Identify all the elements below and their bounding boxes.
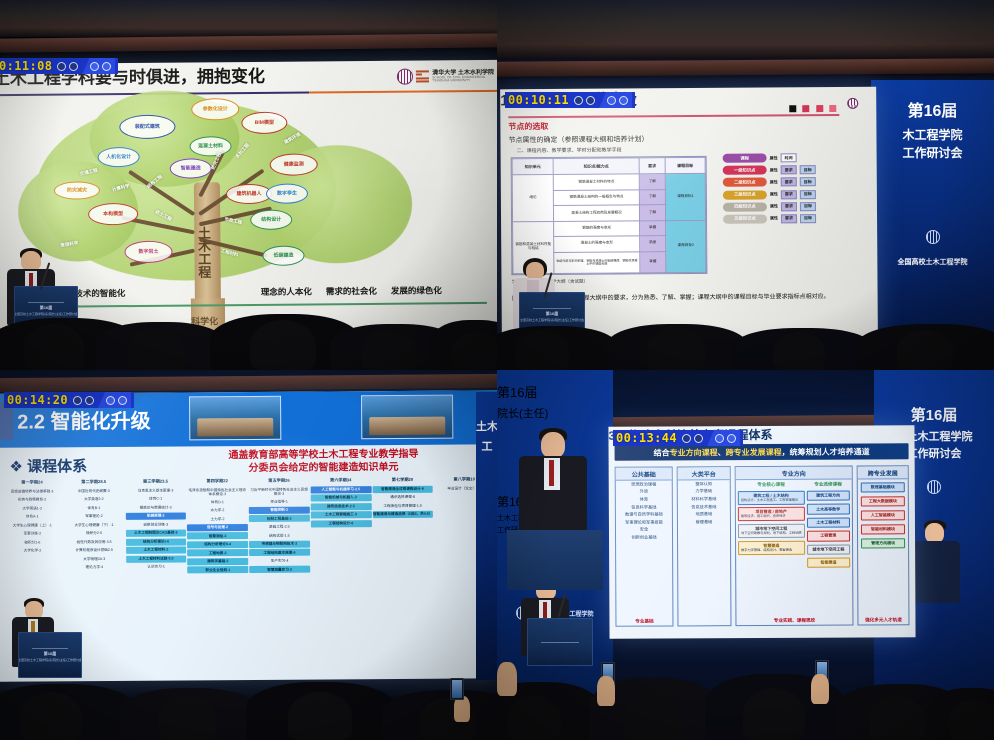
core-sub: 建筑经济、施工组织、投资经济 bbox=[741, 515, 802, 519]
column-platform: 大类平台 整体认知 力学基础 材料科学基础 信息技术基础 地质基础 管理基础 bbox=[677, 466, 732, 626]
course-cell: 土木工程材料试验-0.5 bbox=[126, 555, 187, 562]
column-title: 公共基础 bbox=[616, 467, 672, 480]
record-icon[interactable] bbox=[85, 396, 94, 405]
audience-head bbox=[743, 688, 805, 740]
column-footer: 专业实践、课程思政 bbox=[774, 617, 815, 625]
slide-subtitle: 节点的选取 bbox=[508, 121, 548, 132]
course-cell: 工程结构设计-6 bbox=[311, 520, 372, 527]
cell-point: 粘结作用与影响机理、钢筋与混凝土的粘结强度、钢筋在混凝土中的锚固长度 bbox=[554, 251, 640, 273]
audience-hand bbox=[597, 676, 615, 706]
slide-line1: 节点属性的确定（参照课程大纲和培养计划） bbox=[508, 134, 648, 145]
timer-controls bbox=[574, 96, 595, 105]
caption-item: 需求的社会化 bbox=[326, 285, 377, 297]
side-banner-logo bbox=[871, 230, 994, 244]
course-cell: 砼制工程基础-2 bbox=[249, 515, 310, 522]
term-column: 第七学期20 智能建造全过程课程设计-6 通识选修课程-8 工程承包与项目管理-… bbox=[372, 477, 433, 573]
column-item: 材料科学基础 bbox=[691, 495, 716, 503]
side-led-banner: 土木 工 bbox=[476, 392, 497, 680]
course-cell: 智能建造全过程课程设计-6 bbox=[372, 485, 433, 492]
inner-podium bbox=[507, 530, 603, 590]
course-cell: 通识选修课程-8 bbox=[372, 494, 433, 501]
ceiling bbox=[497, 0, 994, 59]
slide-banner: 通盖教育部高等学校土木工程专业教学指导 分委员会给定的智能建造知识单元 bbox=[173, 448, 473, 475]
timer-tab[interactable] bbox=[82, 58, 115, 74]
course-cell: 中国近现代史纲要-3 bbox=[63, 487, 124, 494]
side-banner-line3: 工作研讨会 bbox=[871, 146, 994, 162]
term-column: 第一学期24 思想道德修养与法律基础-3 形势与政策教育-2 大学英语1-2 体… bbox=[2, 479, 63, 575]
eye-left-icon[interactable] bbox=[90, 62, 99, 71]
graph-node: 三级知识点 bbox=[723, 190, 767, 199]
cross-module: 智能材料模块 bbox=[861, 524, 905, 535]
course-cell: 人工智能与机器学习-2.5 bbox=[310, 486, 371, 493]
audience-head bbox=[869, 696, 925, 740]
term-header: 第三学期23.5 bbox=[125, 478, 186, 484]
elective-course: 建筑工程方向 bbox=[806, 491, 849, 502]
graph-node: 一级知识点 bbox=[723, 166, 767, 175]
tree-bubble: 低碳建造 bbox=[262, 246, 304, 266]
graph-attr-label: 属性 bbox=[770, 179, 778, 185]
section-title: ❖ 课程体系 bbox=[9, 455, 87, 477]
band-post: ，统筹规划人才培养通道 bbox=[782, 446, 870, 457]
graph-value-req: 要求 bbox=[781, 165, 797, 174]
table-row: 钢筋和混凝土材料性能与粘结 钢筋的强度与变形 掌握 课程目标2 bbox=[513, 220, 706, 237]
campus-photo bbox=[361, 395, 453, 440]
graph-attr-label: 属性 bbox=[770, 191, 778, 197]
column-item: 体育 bbox=[640, 496, 648, 504]
graph-value-goal: 目标 bbox=[800, 214, 816, 223]
course-cell: 微积分2-5 bbox=[64, 530, 125, 537]
column-title: 专业方向 bbox=[736, 467, 852, 481]
banner-line2: 分委员会给定的智能建造知识单元 bbox=[173, 461, 473, 476]
caption-item: 理念的人本化 bbox=[261, 285, 312, 297]
cell-req: 掌握 bbox=[640, 220, 666, 236]
course-cell: 结构分析理论I-4 bbox=[126, 538, 187, 545]
timer-controls bbox=[682, 434, 703, 443]
graph-node: 课程 bbox=[723, 153, 767, 162]
column-item: 整体认知 bbox=[695, 480, 712, 488]
curriculum-grid: 第一学期24 思想道德修养与法律基础-3 形势与政策教育-2 大学英语1-2 体… bbox=[2, 476, 496, 575]
column-item: 地质基础 bbox=[695, 511, 712, 519]
side-banner-line1: 第16届 bbox=[871, 102, 994, 123]
course-cell: 形势与政策教育-2 bbox=[2, 496, 63, 503]
term-header: 第五学期26 bbox=[249, 478, 310, 484]
cross-module: 数理基础模块 bbox=[861, 482, 905, 493]
column-title: 大类平台 bbox=[678, 467, 730, 480]
timer-value: 00:13:44 bbox=[616, 431, 677, 445]
course-cell: 土木工程制图及CAD基础-3 bbox=[125, 529, 186, 536]
core-sub: 结构设计、土木工程施工、工程管理概论 bbox=[741, 498, 802, 502]
photo-grid: 土木工程学科要与时俱进，拥抱变化 清华大学 土木水利学院 SCHOOL OF C… bbox=[0, 0, 994, 740]
elective-course: 智能建造 bbox=[807, 557, 850, 568]
elective-course: 工程管理 bbox=[807, 531, 850, 542]
course-cell: 土力学-2 bbox=[187, 515, 248, 522]
stream-timer: 0:11:08 bbox=[0, 58, 118, 74]
band-mid: 、 bbox=[718, 447, 726, 458]
cross-module: 人工智能模块 bbox=[861, 510, 905, 521]
play-icon[interactable] bbox=[574, 96, 583, 105]
inner-banner-line1: 第16届 bbox=[497, 382, 613, 401]
audience-head bbox=[452, 332, 497, 370]
caption-item: 发展的绿色化 bbox=[391, 284, 442, 296]
title-rule bbox=[508, 114, 839, 118]
table-row: 绪论 钢筋混凝土材料的特点 了解 课程目标1 bbox=[512, 174, 705, 191]
term-header: 第七学期20 bbox=[372, 477, 433, 483]
core-label: 专业核心课程 bbox=[738, 482, 805, 488]
graph-attr-label: 属性 bbox=[770, 216, 778, 222]
audience-head bbox=[288, 692, 352, 740]
column-item: 力学基础 bbox=[695, 488, 712, 496]
audience-head bbox=[897, 330, 953, 370]
stream-timer: 00:13:44 bbox=[613, 430, 743, 446]
course-cell: 智能机械与机器人-2 bbox=[310, 494, 371, 501]
play-icon[interactable] bbox=[73, 396, 82, 405]
course-cell: 微积分1-6 bbox=[2, 539, 63, 546]
graph-value-req: 要求 bbox=[781, 190, 797, 199]
panel-top-left: 土木工程学科要与时俱进，拥抱变化 清华大学 土木水利学院 SCHOOL OF C… bbox=[0, 0, 497, 370]
graph-value-goal: 目标 bbox=[800, 177, 816, 186]
play-icon[interactable] bbox=[57, 62, 66, 71]
course-cell: 大学生心理健康（上）-1 bbox=[2, 522, 63, 529]
record-icon[interactable] bbox=[69, 62, 78, 71]
column-major-direction: 专业方向 专业核心课程 建筑工程 / 土木结构 结构设计、土木工程施工、工程管理… bbox=[735, 466, 854, 627]
eye-right-icon[interactable] bbox=[727, 434, 736, 443]
core-sub: 地下空间勘察与规划、地下结构、工程地质 bbox=[741, 532, 802, 536]
course-cell: 大学化学-2 bbox=[2, 547, 63, 554]
audience-head bbox=[515, 330, 569, 370]
panel-bottom-right: 第16届 院长(主任) 重庆大学土木工程学院 第16届 土木工程学院(系)院长(… bbox=[497, 370, 994, 740]
record-icon[interactable] bbox=[694, 434, 703, 443]
course-cell: 思想道德修养与法律基础-3 bbox=[2, 488, 63, 495]
cell-point: 钢筋的强度与变形 bbox=[554, 221, 640, 237]
cell-goal: 课程目标2 bbox=[666, 220, 706, 273]
audience-head bbox=[128, 328, 184, 370]
side-banner-line1: 第16届 bbox=[874, 406, 994, 426]
elective-label: 专业选修课程 bbox=[806, 482, 849, 488]
graph-value-req: 要求 bbox=[781, 202, 797, 211]
elective-course: 城市地下空间工程 bbox=[807, 544, 850, 555]
course-cell: 土木工程智能施工-3 bbox=[311, 511, 372, 518]
side-banner-line: 工 bbox=[476, 440, 497, 454]
course-cell: 体育D-1 bbox=[187, 498, 248, 505]
cell-req: 了解 bbox=[639, 174, 665, 190]
course-cell: 大学英语1-2 bbox=[2, 505, 63, 512]
graph-value-goal: 目标 bbox=[800, 165, 816, 174]
timer-tab[interactable] bbox=[599, 92, 632, 108]
graph-value-goal: 目标 bbox=[800, 202, 816, 211]
course-cell: 生产实习-4 bbox=[249, 557, 310, 564]
core-course: 城市地下空间工程 地下空间勘察与规划、地下结构、工程地质 bbox=[738, 524, 805, 539]
term-column: 第六学期34 人工智能与机器学习-2.5 智能机械与机器人-2 建筑信息技术-2… bbox=[310, 477, 371, 573]
eye-right-icon[interactable] bbox=[619, 96, 628, 105]
col-header: 知识点/能力点 bbox=[553, 158, 639, 175]
side-banner-footer: 全国高校土木工程学院 bbox=[871, 258, 994, 267]
tsinghua-seal-icon bbox=[847, 98, 858, 109]
course-cell: 工程承包与项目管理-1.5 bbox=[372, 502, 433, 509]
timer-value: 0:11:08 bbox=[0, 59, 52, 73]
cell-req: 掌握 bbox=[640, 251, 666, 273]
band-em2: 跨专业发展课程 bbox=[726, 446, 782, 457]
audience-head bbox=[24, 324, 84, 370]
course-cell: 机械原理-2 bbox=[125, 512, 186, 519]
course-cell: 马克思主义基本原理-3 bbox=[125, 487, 186, 494]
panel-top-right: 第16届 木工程学院 工作研讨会 全国高校土木工程学院 1. 课程知识图谱建设 bbox=[497, 0, 994, 370]
course-cell: 毛泽东思想和中国特色社会主义理论体系概论-3 bbox=[187, 487, 248, 498]
course-cell: 择业指导-1 bbox=[249, 498, 310, 505]
audience bbox=[497, 654, 994, 740]
eye-left-icon[interactable] bbox=[715, 434, 724, 443]
cell-req: 了解 bbox=[639, 190, 665, 206]
column-footer: 强化多元人才轨道 bbox=[865, 616, 902, 624]
column-item: 信息科学基础 bbox=[631, 503, 656, 511]
graph-node: 四级知识点 bbox=[723, 202, 767, 211]
inner-banner-overlay: 院长(主任) bbox=[497, 405, 613, 421]
graph-value-req: 要求 bbox=[781, 178, 797, 187]
timer-tab[interactable] bbox=[707, 430, 740, 446]
cross-module: 管理方向模块 bbox=[861, 538, 905, 549]
course-cell: 智慧测绘-3 bbox=[187, 532, 248, 539]
cell-req: 熟悉 bbox=[640, 236, 666, 252]
cell-goal: 课程目标1 bbox=[665, 174, 705, 221]
slide-program-structure: 3.2 构建多科培养方案课程体系 结合专业方向课程、跨专业发展课程，统筹规划人才… bbox=[608, 425, 915, 639]
course-cell: 线性代数及其应用-3.5 bbox=[64, 538, 125, 545]
cell-unit: 绪论 bbox=[512, 175, 553, 222]
course-cell: 基础工程-2.5 bbox=[249, 523, 310, 530]
eye-right-icon[interactable] bbox=[102, 62, 111, 71]
term-header: 第一学期24 bbox=[2, 479, 63, 485]
column-public-basics: 公共基础 思想政治课程 外语 体育 信息科学基础 数理与自然学科基础 军事理论和… bbox=[615, 466, 674, 626]
timer-value: 00:10:11 bbox=[508, 93, 569, 107]
course-cell: 军事训练-2 bbox=[2, 530, 63, 537]
course-cell: 体育C-1 bbox=[125, 495, 186, 502]
audience-head bbox=[362, 330, 416, 370]
projection-screen: 3.2 构建多科培养方案课程体系 结合专业方向课程、跨专业发展课程，统筹规划人才… bbox=[608, 425, 915, 639]
audience-head bbox=[773, 332, 825, 370]
elective-course: 土木工程材料 bbox=[806, 517, 849, 528]
term-header: 第四学期22 bbox=[187, 478, 248, 484]
audience bbox=[0, 668, 497, 740]
core-course: 建筑工程 / 土木结构 结构设计、土木工程施工、工程管理概论 bbox=[738, 490, 805, 505]
term-header: 第二学期28.5 bbox=[63, 479, 124, 485]
course-cell: 工程结构基本原理-6 bbox=[249, 549, 310, 556]
column-item: 信息技术基础 bbox=[691, 503, 716, 511]
course-cell: 大学生心理健康（下）-1 bbox=[64, 521, 125, 528]
eye-left-icon[interactable] bbox=[106, 396, 115, 405]
column-item: 思想政治课程 bbox=[631, 481, 656, 489]
graph-attr-label: 属性 bbox=[770, 155, 778, 161]
graph-attr-label: 属性 bbox=[770, 167, 778, 173]
play-icon[interactable] bbox=[682, 434, 691, 443]
graph-node: 二级知识点 bbox=[723, 178, 767, 187]
column-cross-major: 跨专业发展 数理基础模块 工程大数据模块 人工智能模块 智能材料模块 管理方向模… bbox=[857, 465, 910, 625]
course-cell: 认识实习-1 bbox=[126, 563, 187, 570]
audience-head bbox=[949, 700, 994, 740]
course-cell: 结构试验-1.5 bbox=[249, 532, 310, 539]
course-cell: 传感器与物联网技术-2 bbox=[249, 540, 310, 547]
course-cell: 体育B-1 bbox=[64, 504, 125, 511]
audience-head bbox=[647, 328, 705, 370]
timer-controls bbox=[73, 396, 94, 405]
audience-head bbox=[20, 692, 82, 740]
course-cell: 创新创业训练-3 bbox=[125, 521, 186, 528]
column-item: 安全 bbox=[640, 526, 648, 534]
graph-value-time: 时间 bbox=[781, 153, 797, 162]
trunk-label: 土木工程 bbox=[196, 226, 210, 278]
podium-line1: 第16届 bbox=[44, 651, 56, 657]
course-cell: 建筑学基础-2 bbox=[187, 558, 248, 565]
band-em1: 专业方向课程 bbox=[670, 447, 718, 458]
timer-controls bbox=[57, 62, 78, 71]
column-footer: 专业基础 bbox=[635, 618, 653, 626]
university-seal-icon bbox=[927, 480, 941, 494]
timer-value: 00:14:20 bbox=[7, 393, 68, 407]
eye-right-icon[interactable] bbox=[118, 396, 127, 405]
audience-phone bbox=[450, 678, 464, 700]
audience-head bbox=[623, 690, 683, 740]
side-banner-line2: 木工程学院 bbox=[871, 128, 994, 144]
slide-title: 2.2 智能化升级 bbox=[17, 405, 151, 435]
core-sub: 数字力学基础、结构设计、数智建造 bbox=[741, 549, 802, 553]
course-cell: 大学英语2-2 bbox=[63, 496, 124, 503]
graph-attr-label: 属性 bbox=[770, 204, 778, 210]
record-icon[interactable] bbox=[586, 96, 595, 105]
ceiling bbox=[0, 0, 497, 37]
band-pre: 结合 bbox=[654, 447, 670, 458]
inner-speaker-figure bbox=[513, 428, 593, 538]
course-cell: 水力学-2 bbox=[187, 507, 248, 514]
course-cell: 体育A-1 bbox=[2, 513, 63, 520]
course-cell: 建筑信息技术-2.5 bbox=[311, 503, 372, 510]
slide-caption-right: 理念的人本化 需求的社会化 发展的绿色化 bbox=[261, 284, 442, 298]
graph-node: 五级知识点 bbox=[723, 214, 767, 223]
course-cell: 智慧测量实习-2 bbox=[249, 566, 310, 573]
audience bbox=[497, 316, 994, 370]
core-course: 项目管理 / 房地产 建筑经济、施工组织、投资经济 bbox=[738, 507, 805, 522]
term-column: 第三学期23.5 马克思主义基本原理-3 体育C-1 概率论与数理统计-3 机械… bbox=[125, 478, 186, 574]
panel-bottom-left: 2.2 智能化升级 ❖ 课程体系 通盖教育部高等学校土木工程专业教学指导 分委员… bbox=[0, 370, 497, 740]
column-title: 跨专业发展 bbox=[858, 466, 908, 479]
course-cell: 概率论与数理统计-3 bbox=[125, 504, 186, 511]
cell-point: 钢筋混凝土结构的一般概念与特点 bbox=[554, 190, 640, 206]
col-header: 知识单元 bbox=[512, 158, 553, 175]
speaker-head bbox=[21, 251, 41, 271]
side-banner-line: 土木 bbox=[476, 420, 497, 434]
university-seal-icon bbox=[926, 230, 940, 244]
term-column: 第五学期26 习近平新时代中国特色社会主义思想概论-3 择业指导-1 智能控制-… bbox=[249, 478, 310, 574]
stream-timer: 00:10:11 bbox=[505, 92, 635, 108]
audience-head bbox=[158, 696, 216, 740]
cell-req: 了解 bbox=[639, 205, 665, 221]
course-cell: 土木工程材料-2 bbox=[126, 546, 187, 553]
course-cell: 结构分析理论II-4 bbox=[187, 541, 248, 548]
timer-tab[interactable] bbox=[98, 392, 131, 408]
cell-point: 钢筋混凝土材料的特点 bbox=[553, 174, 639, 190]
column-item: 管理基础 bbox=[696, 518, 713, 526]
audience-head bbox=[507, 696, 561, 740]
course-cell: 工程地质-2 bbox=[187, 549, 248, 556]
course-cell: 习近平新时代中国特色社会主义思想概论-3 bbox=[249, 486, 310, 497]
graph-value-req: 要求 bbox=[781, 214, 797, 223]
cross-module: 工程大数据模块 bbox=[861, 496, 905, 507]
column-item: 创新创业基础 bbox=[631, 534, 656, 542]
cell-point: 混凝土的强度与变形 bbox=[554, 236, 640, 252]
course-cell: 大学物理2A-3 bbox=[64, 555, 125, 562]
cell-point: 混凝土结构工程应用及发展概况 bbox=[554, 205, 640, 221]
audience-head bbox=[250, 320, 316, 370]
slide-line2: 二、课程内容、教学要求、学时分配和教学手段 bbox=[517, 146, 622, 154]
audience-hand bbox=[811, 674, 829, 704]
caption-item: 技术的智能化 bbox=[74, 287, 125, 299]
course-cell: 智能控制-2 bbox=[249, 506, 310, 513]
audience bbox=[0, 300, 497, 370]
stream-timer: 00:14:20 bbox=[4, 392, 134, 408]
column-item: 外语 bbox=[640, 488, 648, 496]
column-item: 军事理论和军事技能 bbox=[625, 518, 663, 526]
col-header: 要求 bbox=[639, 158, 665, 175]
course-cell: 信号与处理-2 bbox=[187, 524, 248, 531]
eye-left-icon[interactable] bbox=[607, 96, 616, 105]
term-column: 第四学期22 毛泽东思想和中国特色社会主义理论体系概论-3 体育D-1 水力学-… bbox=[187, 478, 248, 574]
course-cell: 智能建造与建造选修（6选3，共4.5） bbox=[372, 511, 433, 518]
audience-hand bbox=[497, 662, 517, 696]
knowledge-graph-chain: 课程 属性 时间 一级知识点 属性 要求 目标 二级知识点 属性 要求 bbox=[723, 153, 869, 224]
elective-course: 土木高等数学 bbox=[806, 504, 849, 515]
col-header: 课程目标 bbox=[665, 157, 705, 174]
term-header: 第六学期34 bbox=[310, 477, 371, 483]
course-cell: 军事理论-2 bbox=[64, 513, 125, 520]
core-course: 智慧建造 数字力学基础、结构设计、数智建造 bbox=[738, 540, 805, 555]
course-cell: 职业生业规划-1 bbox=[187, 566, 248, 573]
course-cell: 计算机程序设计基础2-5 bbox=[64, 547, 125, 554]
campus-photo bbox=[189, 396, 281, 441]
podium-line2: 全国高校土木工程学院(系)院长(主任)工作研讨会 bbox=[18, 659, 82, 663]
course-cell: 理论力学-4 bbox=[64, 564, 125, 571]
term-column: 第二学期28.5 中国近现代史纲要-3 大学英语2-2 体育B-1 军事理论-2… bbox=[63, 479, 124, 575]
graph-value-goal: 目标 bbox=[800, 190, 816, 199]
